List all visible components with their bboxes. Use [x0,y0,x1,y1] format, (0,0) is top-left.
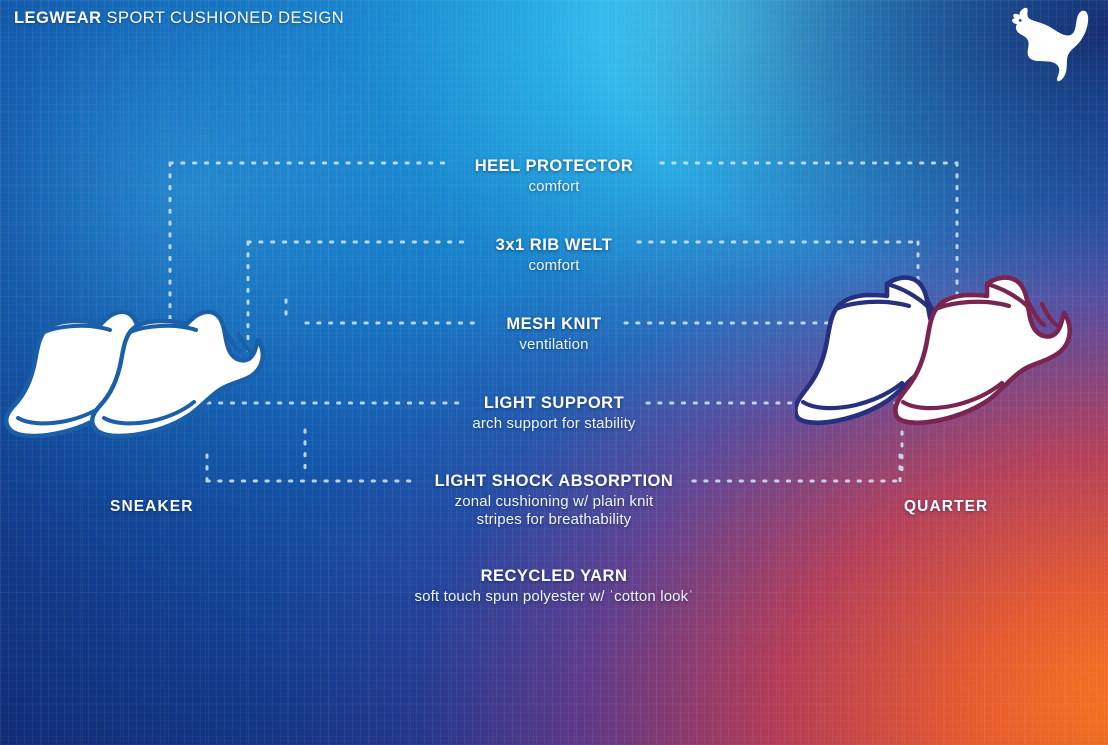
sneaker-socks-illustration [4,296,314,476]
category-label-quarter: QUARTER [904,498,988,516]
category-label-sneaker: SNEAKER [110,498,194,516]
infographic-canvas: LEGWEAR SPORT CUSHIONED DESIGN [0,0,1108,745]
quarter-socks-illustration [795,268,1105,476]
